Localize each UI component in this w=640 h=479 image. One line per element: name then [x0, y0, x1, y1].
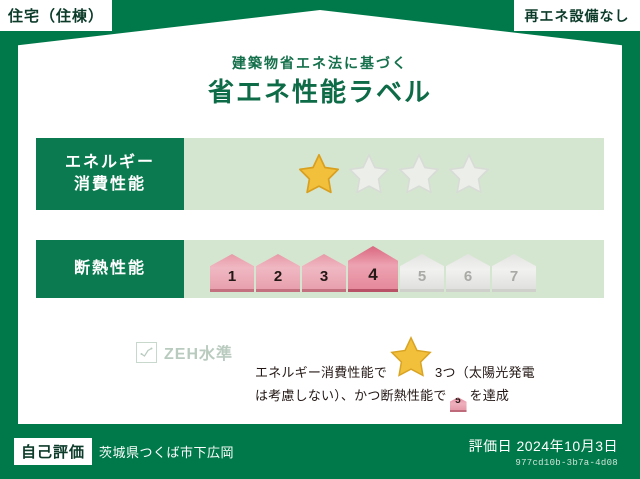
insulation-level-badges: 1234567 [210, 246, 536, 292]
insulation-label-line1: 断熱性能 [74, 258, 146, 280]
self-evaluation-badge: 自己評価 [14, 438, 92, 465]
zeh-mark: ZEH水準 [136, 334, 233, 364]
zeh-desc-part3: を達成 [470, 388, 510, 403]
inline-star-icon [388, 334, 434, 380]
building-type-tag: 住宅（住棟） [0, 0, 112, 31]
page-title: 省エネ性能ラベル [0, 79, 640, 105]
energy-performance-label-block: エネルギー 消費性能 [36, 138, 184, 210]
title-subtitle: 建築物省エネ法に基づく [0, 56, 640, 70]
star-empty-icon [346, 151, 392, 197]
evaluation-date: 評価日 2024年10月3日 [469, 436, 618, 456]
address-text: 茨城県つくば市下広岡 [99, 442, 234, 461]
star-filled-icon [296, 151, 342, 197]
footer-left-group: 自己評価 茨城県つくば市下広岡 [14, 438, 234, 465]
zeh-desc-stars: 3つ（太陽光発電 [435, 365, 535, 380]
inline-level-badge: 5 [450, 397, 467, 412]
star-rating-strip [184, 138, 604, 210]
insulation-level-badge: 1 [210, 254, 254, 292]
footer-right-group: 評価日 2024年10月3日 977cd10b-3b7a-4d08 [469, 436, 626, 468]
label-footer: 自己評価 茨城県つくば市下広岡 評価日 2024年10月3日 977cd10b-… [0, 424, 640, 479]
energy-label-line1: エネルギー [65, 152, 155, 174]
zeh-desc-part1: エネルギー消費性能で [255, 365, 387, 380]
document-id: 977cd10b-3b7a-4d08 [469, 458, 618, 468]
star-empty-icon [446, 151, 492, 197]
energy-performance-row: エネルギー 消費性能 [36, 138, 604, 210]
insulation-level-badge: 6 [446, 254, 490, 292]
insulation-performance-label-block: 断熱性能 [36, 240, 184, 298]
zeh-check-icon [136, 342, 157, 363]
insulation-level-badge: 5 [400, 254, 444, 292]
energy-label-line2: 消費性能 [74, 174, 146, 196]
insulation-level-area: 1234567 [184, 240, 604, 298]
zeh-description: エネルギー消費性能で3つ（太陽光発電 は考慮しない）、かつ断熱性能で5を達成 [255, 334, 535, 412]
star-empty-icon [396, 151, 442, 197]
label-title-block: 建築物省エネ法に基づく 省エネ性能ラベル [0, 56, 640, 105]
insulation-level-badge: 7 [492, 254, 536, 292]
energy-performance-label: 住宅（住棟） 再エネ設備なし 建築物省エネ法に基づく 省エネ性能ラベル エネルギ… [0, 0, 640, 479]
renewable-equipment-tag: 再エネ設備なし [514, 0, 640, 31]
zeh-desc-part2: は考慮しない）、かつ断熱性能で [255, 388, 447, 403]
zeh-label: ZEH水準 [164, 340, 233, 364]
insulation-performance-row: 断熱性能 1234567 [36, 240, 604, 298]
zeh-section: ZEH水準 エネルギー消費性能で3つ（太陽光発電 は考慮しない）、かつ断熱性能で… [36, 334, 604, 412]
insulation-level-badge: 4 [348, 246, 398, 292]
insulation-level-badge: 3 [302, 254, 346, 292]
insulation-level-badge: 2 [256, 254, 300, 292]
